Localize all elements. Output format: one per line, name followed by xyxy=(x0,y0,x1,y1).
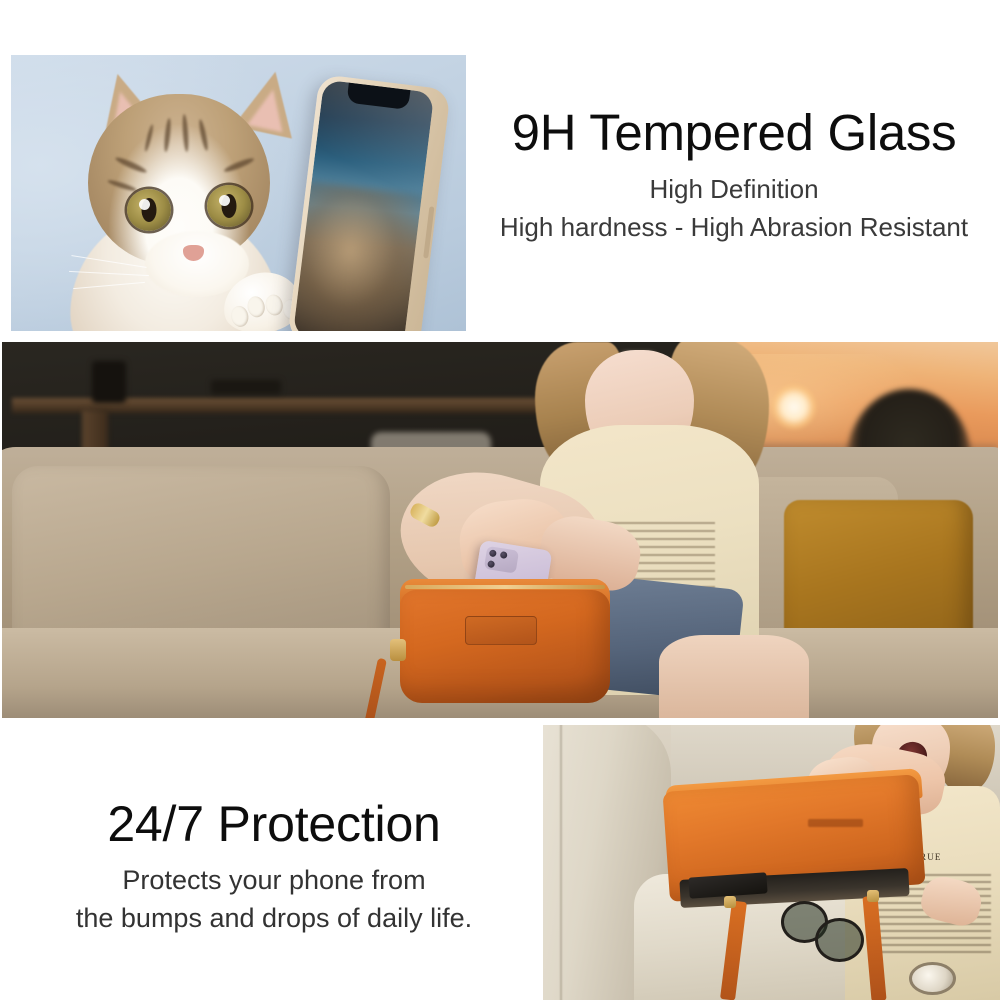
protection-subtitle-1: Protects your phone from xyxy=(24,862,524,898)
camera-lens xyxy=(500,551,508,559)
sunglasses-right-lens xyxy=(815,918,864,963)
armchair-seam xyxy=(560,725,562,1000)
cat-toe xyxy=(246,295,267,319)
cat-forehead-stripe xyxy=(198,119,210,151)
cat-forehead-stripe xyxy=(143,124,154,152)
orange-leather-bag xyxy=(400,590,609,703)
headline-title: 9H Tempered Glass xyxy=(476,104,992,162)
tote-gold-hardware xyxy=(724,896,736,908)
cat-toe xyxy=(264,293,285,317)
smartphone-screen xyxy=(293,80,435,331)
cat-reflection-on-screen xyxy=(293,181,435,331)
couch-scene-image xyxy=(2,342,998,718)
camera-lens xyxy=(489,550,497,558)
shelf-object-vase xyxy=(92,361,126,403)
shelf-object-box xyxy=(211,380,281,394)
cat-cheek-stripe xyxy=(106,178,136,192)
protection-text-block: 24/7 Protection Protects your phone from… xyxy=(24,796,524,936)
bag-gold-clasp xyxy=(390,639,406,661)
tote-gold-hardware xyxy=(867,890,879,902)
smartphone-side-button xyxy=(423,206,434,258)
cat-phone-image xyxy=(11,55,466,331)
product-feature-page: 9H Tempered Glass High Definition High h… xyxy=(0,0,1000,1000)
smartphone-device xyxy=(287,74,451,331)
smartphone-notch xyxy=(346,83,410,110)
cat-left-eye xyxy=(127,189,171,231)
camera-lens xyxy=(487,560,495,568)
phone-camera-module xyxy=(484,546,519,573)
wristwatch xyxy=(909,962,956,996)
protection-title: 24/7 Protection xyxy=(24,796,524,852)
headline-text-block: 9H Tempered Glass High Definition High h… xyxy=(476,104,992,244)
headline-subtitle-2: High hardness - High Abrasion Resistant xyxy=(476,211,992,244)
bag-brand-patch xyxy=(465,616,537,644)
cat-forehead-stripe xyxy=(163,117,172,151)
tote-bag-logo xyxy=(808,819,863,827)
cat-cheek-stripe xyxy=(114,155,148,174)
protection-subtitle-2: the bumps and drops of daily life. xyxy=(24,900,524,936)
cat-forehead-stripe xyxy=(182,114,190,152)
woman-leg xyxy=(659,635,808,718)
headline-subtitle-1: High Definition xyxy=(476,173,992,206)
tote-bag-image: TRORUE xyxy=(543,725,1000,1000)
cat-right-eye xyxy=(207,185,251,227)
bag-zipper xyxy=(405,585,604,589)
cat-cheek-stripe xyxy=(223,156,255,174)
sun xyxy=(772,385,816,429)
